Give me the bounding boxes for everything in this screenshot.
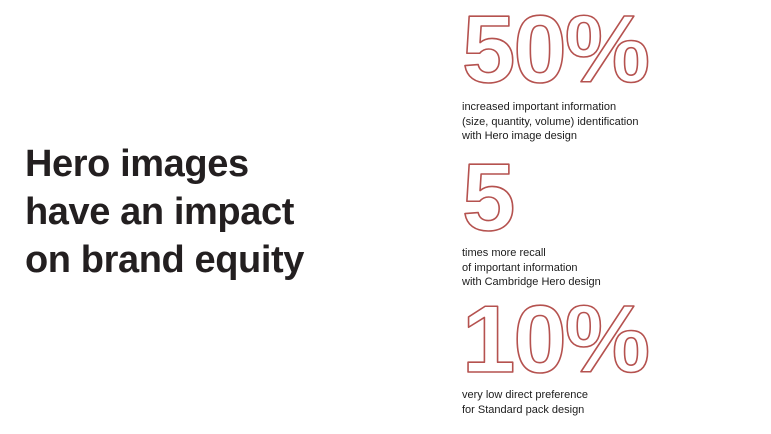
statistic-figure-text: 5: [462, 144, 513, 251]
caption-line: of important information: [462, 261, 762, 276]
statistic-caption: increased important information (size, q…: [462, 92, 762, 144]
statistics-list: 50% increased important information (siz…: [462, 0, 762, 434]
statistic-item: 10% very low direct preference for Stand…: [462, 308, 762, 417]
page-title: Hero images have an impact on brand equi…: [25, 140, 405, 284]
caption-line: times more recall: [462, 246, 762, 261]
statistic-figure-outline: 50%: [462, 12, 762, 92]
statistic-figure-text: 50%: [462, 0, 648, 103]
statistic-item: 5 times more recall of important informa…: [462, 162, 762, 290]
headline-line-1: Hero images: [25, 140, 405, 188]
caption-line: with Hero image design: [462, 129, 762, 144]
statistic-figure-outline: 5: [462, 162, 762, 238]
caption-line: increased important information: [462, 100, 762, 115]
statistic-figure-text: 10%: [462, 286, 648, 393]
statistic-caption: times more recall of important informati…: [462, 238, 762, 290]
statistic-item: 50% increased important information (siz…: [462, 12, 762, 144]
caption-line: for Standard pack design: [462, 403, 762, 418]
headline-line-3: on brand equity: [25, 236, 405, 284]
caption-line: (size, quantity, volume) identification: [462, 115, 762, 130]
infographic-slide: Hero images have an impact on brand equi…: [0, 0, 771, 434]
headline-line-2: have an impact: [25, 188, 405, 236]
statistic-figure-outline: 10%: [462, 308, 762, 380]
